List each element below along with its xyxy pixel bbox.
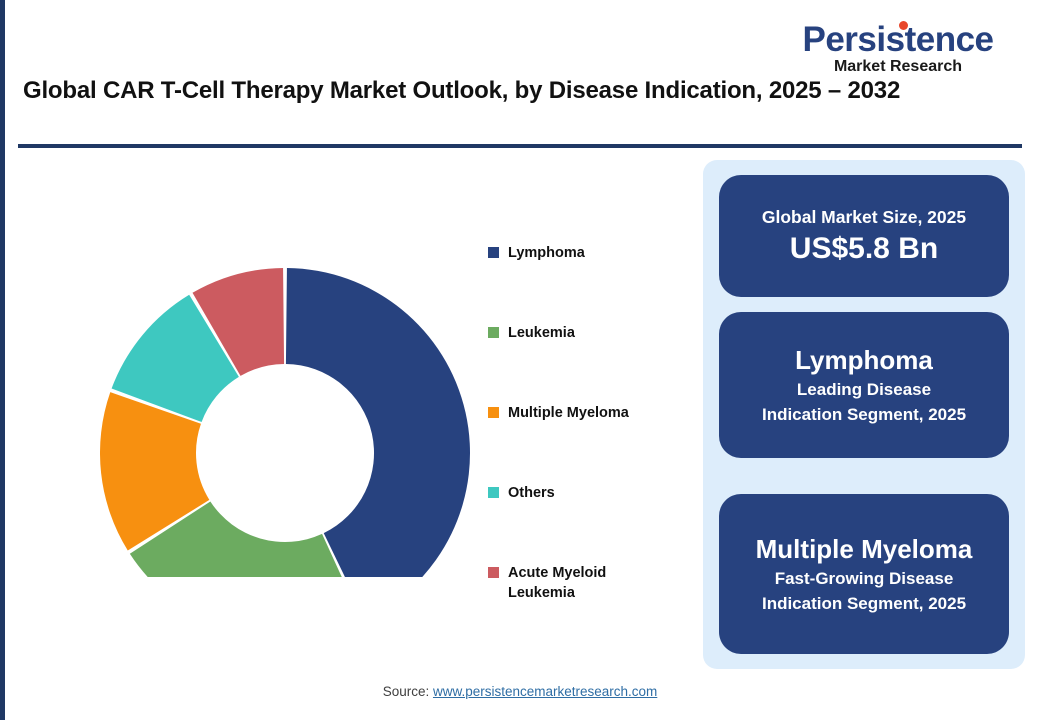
source-link[interactable]: www.persistencemarketresearch.com [433, 684, 657, 699]
legend-label: Leukemia [508, 323, 575, 343]
legend-swatch-icon [488, 567, 499, 578]
legend-label: Lymphoma [508, 243, 585, 263]
legend-item-lymphoma[interactable]: Lymphoma [488, 243, 698, 323]
callout-leading-segment: Lymphoma Leading Disease Indication Segm… [719, 312, 1009, 458]
donut-chart: Lymphoma Leukemia Multiple Myeloma Other… [10, 155, 690, 665]
legend-label: Others [508, 483, 555, 503]
legend-item-acute-myeloid-leukemia[interactable]: Acute Myeloid Leukemia [488, 563, 698, 643]
left-accent-bar [0, 0, 5, 720]
page-title: Global CAR T-Cell Therapy Market Outlook… [23, 74, 903, 108]
infographic-root: Persistence Market Research Global CAR T… [0, 0, 1040, 720]
legend-swatch-icon [488, 407, 499, 418]
callout-subline-2: Indication Segment, 2025 [762, 402, 966, 427]
donut-chart-svg [100, 205, 472, 577]
callout-subline-1: Leading Disease [797, 377, 931, 402]
title-divider [18, 144, 1022, 148]
legend-item-others[interactable]: Others [488, 483, 698, 563]
callout-heading: Global Market Size, 2025 [762, 205, 966, 230]
callout-heading: Lymphoma [795, 343, 933, 377]
donut-slice-group [100, 268, 470, 577]
callout-heading: Multiple Myeloma [756, 532, 973, 566]
legend-label: Multiple Myeloma [508, 403, 629, 423]
logo-subtitle: Market Research [792, 58, 1004, 75]
callout-subline-2: Indication Segment, 2025 [762, 591, 966, 616]
donut-slice[interactable] [286, 268, 470, 577]
callout-fast-growing-segment: Multiple Myeloma Fast-Growing Disease In… [719, 494, 1009, 654]
highlights-panel: Global Market Size, 2025 US$5.8 Bn Lymph… [703, 160, 1025, 669]
callout-value: US$5.8 Bn [790, 230, 938, 268]
legend-swatch-icon [488, 487, 499, 498]
legend-swatch-icon [488, 327, 499, 338]
legend-item-multiple-myeloma[interactable]: Multiple Myeloma [488, 403, 698, 483]
source-prefix: Source: [383, 684, 433, 699]
legend-label: Acute Myeloid Leukemia [508, 563, 628, 603]
logo-wordmark: Persistence [802, 22, 993, 57]
callout-market-size: Global Market Size, 2025 US$5.8 Bn [719, 175, 1009, 297]
legend-item-leukemia[interactable]: Leukemia [488, 323, 698, 403]
company-logo: Persistence Market Research [792, 22, 1004, 74]
legend-swatch-icon [488, 247, 499, 258]
logo-wordmark-text: Persistence [802, 20, 993, 59]
chart-legend: Lymphoma Leukemia Multiple Myeloma Other… [488, 243, 698, 643]
callout-subline-1: Fast-Growing Disease [775, 566, 954, 591]
source-line: Source: www.persistencemarketresearch.co… [0, 684, 1040, 699]
